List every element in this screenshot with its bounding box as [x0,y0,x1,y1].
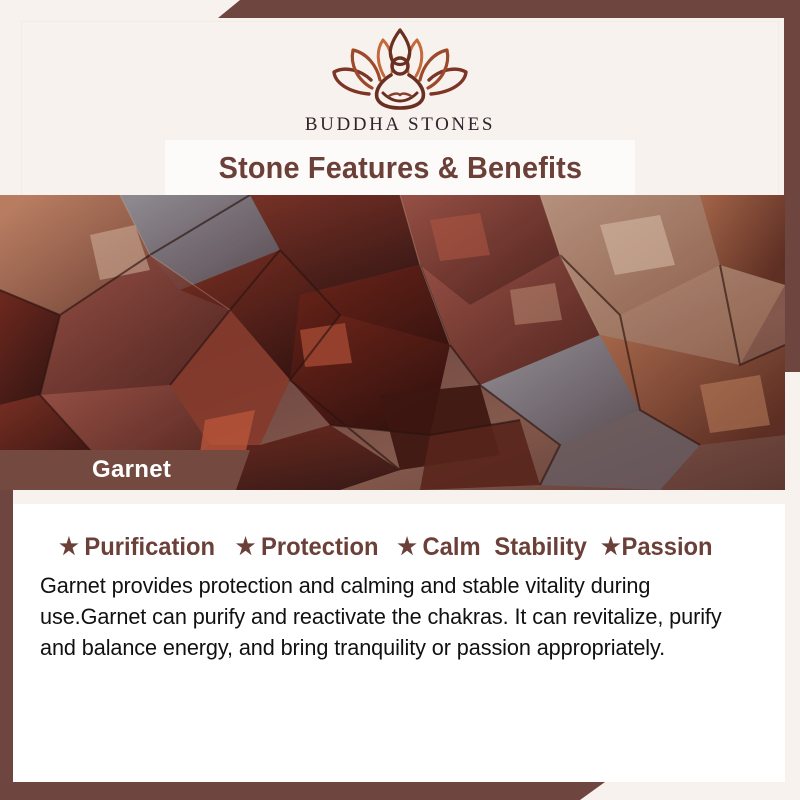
brand-logo-block: BUDDHA STONES [0,22,800,136]
cream-divider-strip [13,490,785,504]
benefit-item-purification: ★ Purification [59,533,215,562]
title-banner: Stone Features & Benefits [165,140,635,195]
benefit-label: Passion [622,533,713,562]
frame-band-top [218,0,800,18]
product-feature-card: BUDDHA STONES Stone Features & Benefits [0,0,800,800]
benefit-item-calm: ★ Calm [398,533,481,562]
stone-name-label: Garnet [92,456,171,484]
garnet-crystal-cluster-graphic [0,195,785,490]
star-icon: ★ [398,535,418,558]
star-icon: ★ [236,535,256,558]
benefit-item-protection: ★ Protection [236,533,379,562]
content-panel: ★ Purification ★ Protection ★ Calm ★ Sta… [13,504,785,782]
benefit-label: Calm [423,533,481,562]
page-title: Stone Features & Benefits [218,150,582,186]
frame-band-bottom [0,782,605,800]
benefit-label: Protection [261,533,378,562]
brand-name: BUDDHA STONES [0,114,800,136]
star-icon: ★ [59,535,79,558]
benefit-label: Purification [84,533,215,562]
stone-name-tag: Garnet [0,450,250,490]
hero-image [0,195,785,490]
stone-description: Garnet provides protection and calming a… [40,570,751,664]
lotus-meditating-buddha-icon [325,22,475,112]
benefit-item-passion: ★ Passion [601,533,713,562]
benefit-item-stability: ★ Stability [495,533,587,562]
star-icon: ★ [601,535,621,558]
benefit-label: Stability [495,533,587,562]
frame-band-left [0,482,13,800]
benefits-list: ★ Purification ★ Protection ★ Calm ★ Sta… [55,533,755,562]
